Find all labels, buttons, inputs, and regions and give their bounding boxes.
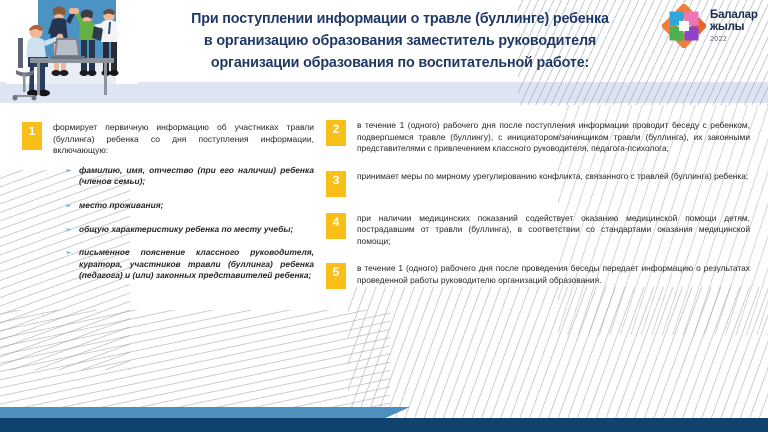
arrow-bullet-icon: ➢ <box>65 200 79 212</box>
right-column: 2 в течение 1 (одного) рабочего дня посл… <box>326 120 750 305</box>
step-number-badge: 2 <box>326 120 346 146</box>
step-number-badge: 3 <box>326 171 346 197</box>
step-number-badge: 4 <box>326 213 346 239</box>
sub-bullet-list: ➢ фамилию, имя, отчество (при его наличи… <box>53 165 314 282</box>
list-item: 5 в течение 1 (одного) рабочего дня посл… <box>326 263 750 289</box>
list-item: ➢ общую характеристику ребенка по месту … <box>65 224 314 236</box>
list-item-body: принимает меры по мирному урегулированию… <box>357 171 750 183</box>
logo-line-1: Балалар <box>710 10 758 22</box>
balalar-zhyly-flower-logo-icon <box>662 4 706 48</box>
sub-bullet-text: место проживания; <box>79 200 314 212</box>
logo-year: 2022 <box>710 36 758 43</box>
bottom-navy-bar <box>0 418 768 432</box>
title-line-2: в организацию образования заместитель ру… <box>140 30 660 52</box>
sub-bullet-text: общую характеристику ребенка по месту уч… <box>79 224 314 236</box>
list-item: 3 принимает меры по мирному урегулирован… <box>326 171 750 197</box>
list-item-body: при наличии медицинских показаний содейс… <box>357 213 750 248</box>
title-line-1: При поступлении информации о травле (бул… <box>140 8 660 30</box>
list-item-body: в течение 1 (одного) рабочего дня после … <box>357 263 750 286</box>
list-item-text: при наличии медицинских показаний содейс… <box>357 213 750 248</box>
list-item-text: в течение 1 (одного) рабочего дня после … <box>357 120 750 155</box>
list-item-text: формирует первичную информацию об участн… <box>53 122 314 157</box>
arrow-bullet-icon: ➢ <box>65 247 79 259</box>
list-item: ➢ место проживания; <box>65 200 314 212</box>
bottom-blue-swoosh <box>0 407 410 418</box>
slide-canvas: При поступлении информации о травле (бул… <box>0 0 768 432</box>
sub-bullet-text: фамилию, имя, отчество (при его наличии)… <box>79 165 314 188</box>
logo-line-2: жылы <box>710 22 758 34</box>
title-line-3: организации образования по воспитательно… <box>140 52 660 74</box>
left-column: 1 формирует первичную информацию об учас… <box>22 122 314 305</box>
arrow-bullet-icon: ➢ <box>65 224 79 236</box>
list-item: ➢ письменное пояснение классного руковод… <box>65 247 314 282</box>
balalar-zhyly-logo: Балалар жылы 2022 <box>662 3 762 49</box>
page-title: При поступлении информации о травле (бул… <box>140 8 660 74</box>
logo-text-block: Балалар жылы 2022 <box>710 10 758 43</box>
list-item-text: принимает меры по мирному урегулированию… <box>357 171 750 183</box>
list-item-text: в течение 1 (одного) рабочего дня после … <box>357 263 750 286</box>
list-item: 1 формирует первичную информацию об учас… <box>22 122 314 294</box>
diagonal-lines-bottom-left-decor <box>0 310 390 420</box>
list-item-body: формирует первичную информацию об участн… <box>53 122 314 294</box>
office-team-highfive-illustration <box>6 0 138 103</box>
step-number-badge: 1 <box>22 122 42 150</box>
arrow-bullet-icon: ➢ <box>65 165 79 177</box>
list-item: 2 в течение 1 (одного) рабочего дня посл… <box>326 120 750 155</box>
list-item: 4 при наличии медицинских показаний соде… <box>326 213 750 248</box>
step-number-badge: 5 <box>326 263 346 289</box>
list-item-body: в течение 1 (одного) рабочего дня после … <box>357 120 750 155</box>
list-item: ➢ фамилию, имя, отчество (при его наличи… <box>65 165 314 188</box>
sub-bullet-text: письменное пояснение классного руководит… <box>79 247 314 282</box>
diagonal-lines-bottom-right-decor <box>348 287 768 422</box>
